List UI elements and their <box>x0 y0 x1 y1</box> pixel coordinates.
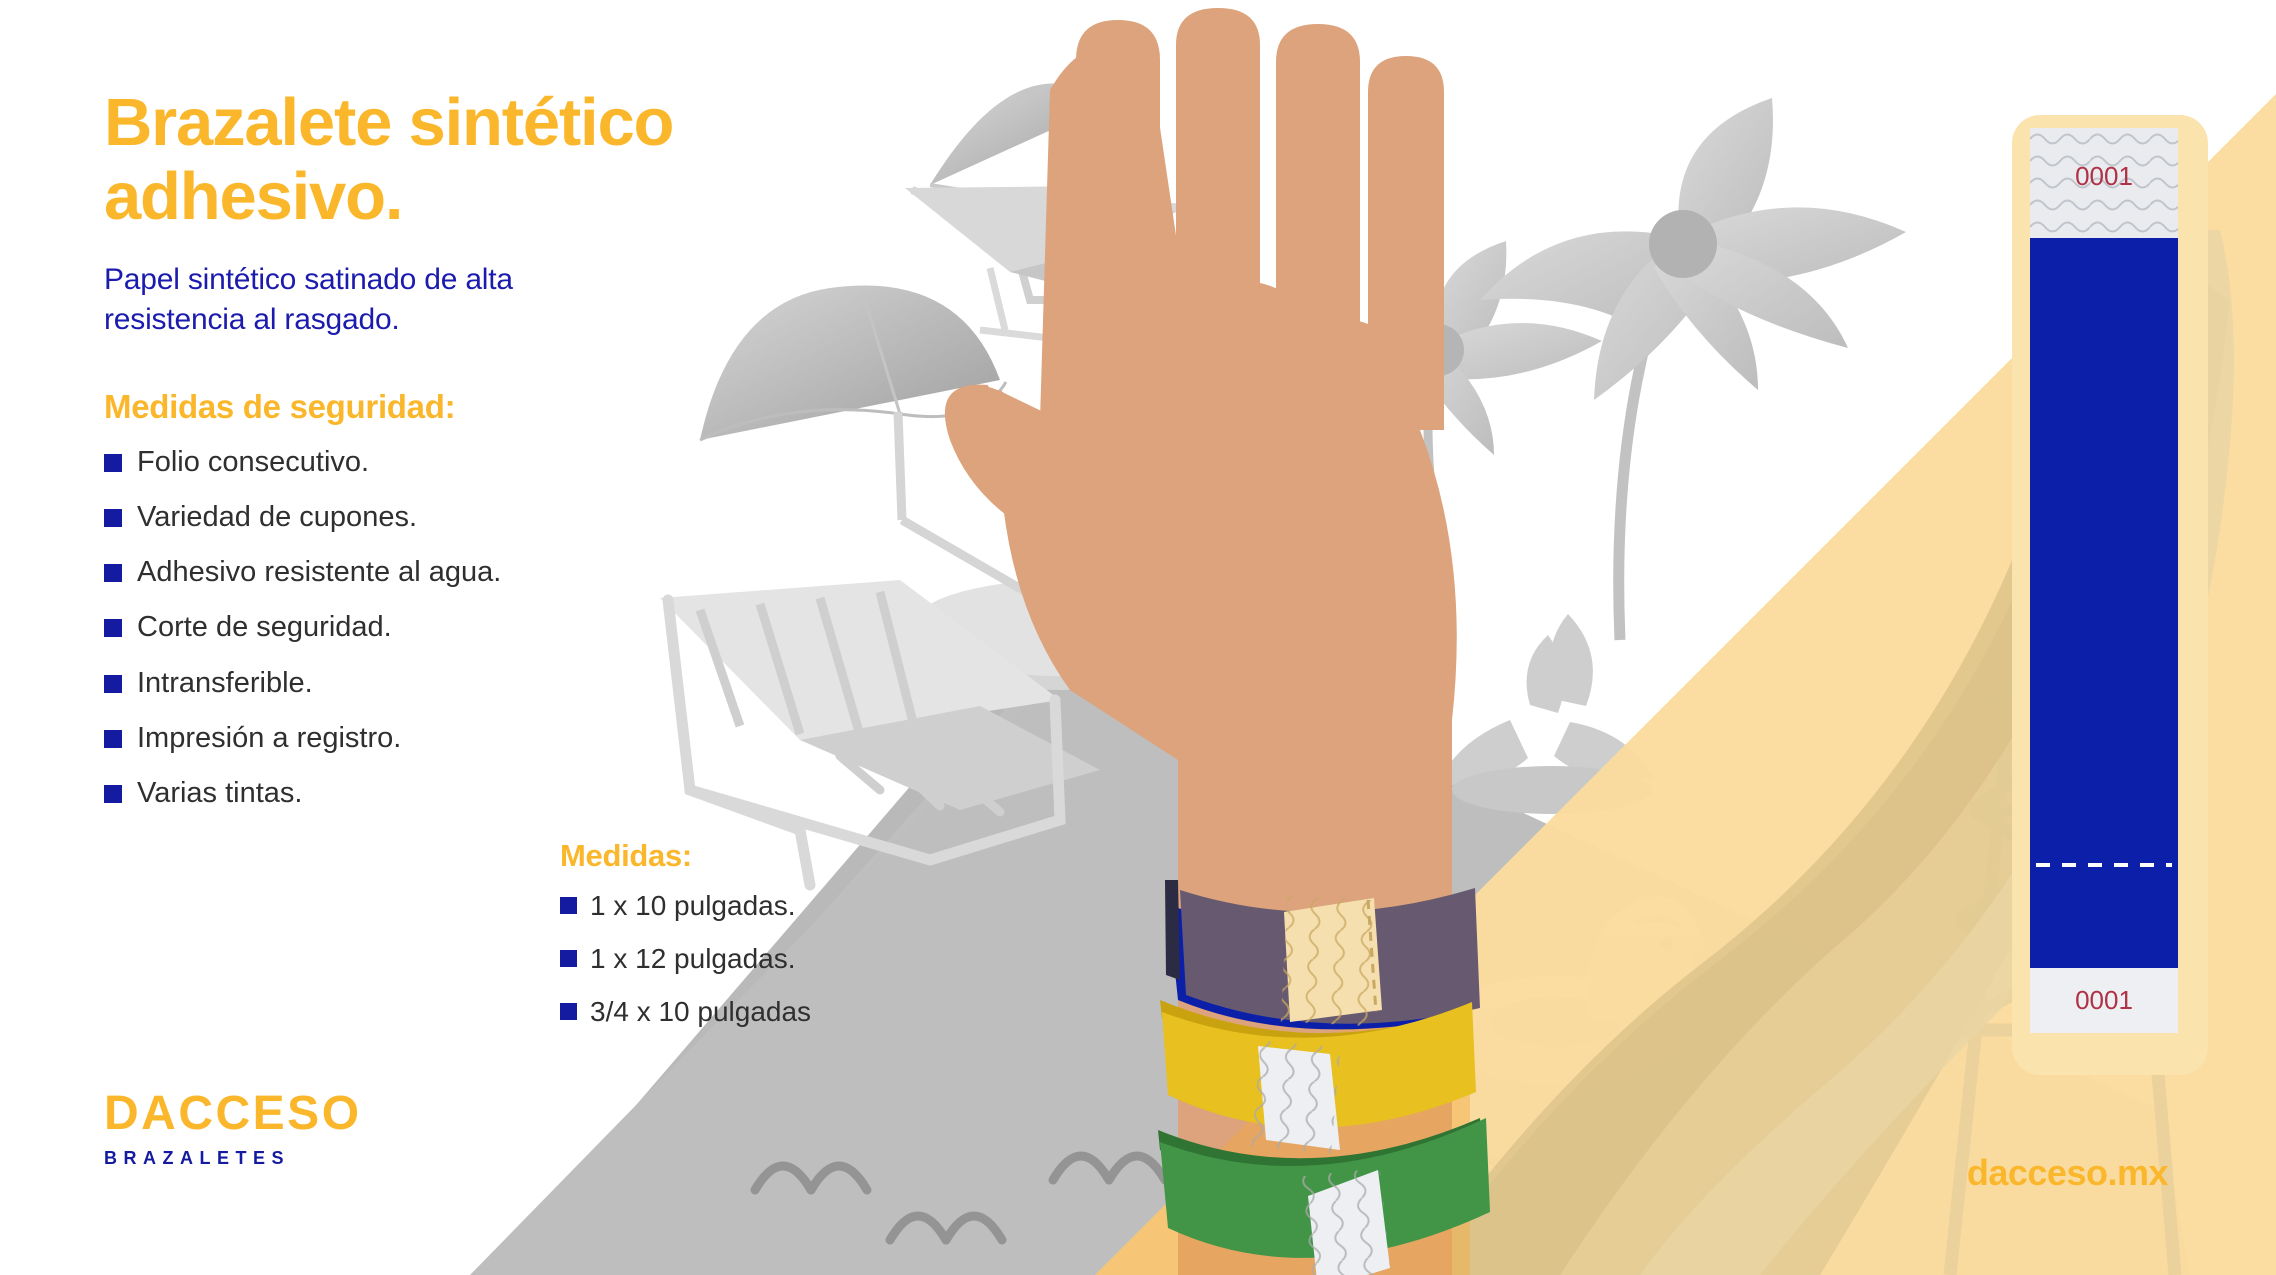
list-item-label: Adhesivo resistente al agua. <box>137 554 501 591</box>
list-item-label: 1 x 10 pulgadas. <box>590 888 796 924</box>
bullet-square-icon <box>104 675 122 693</box>
list-item-label: 1 x 12 pulgadas. <box>590 941 796 977</box>
bullet-square-icon <box>560 897 577 914</box>
folio-main-band <box>2030 238 2178 968</box>
bullet-square-icon <box>104 785 122 803</box>
page-title: Brazalete sintético adhesivo. <box>104 86 804 233</box>
list-item-label: Impresión a registro. <box>137 720 401 757</box>
folio-bottom-stub: 0001 <box>2030 968 2178 1033</box>
bullet-square-icon <box>104 509 122 527</box>
list-item: 1 x 10 pulgadas. <box>560 888 980 924</box>
bullet-square-icon <box>104 454 122 472</box>
security-section-title: Medidas de seguridad: <box>104 388 804 426</box>
bullet-square-icon <box>104 730 122 748</box>
bullet-square-icon <box>560 950 577 967</box>
security-measures-list: Folio consecutivo. Variedad de cupones. … <box>104 444 804 812</box>
bullet-square-icon <box>560 1003 577 1020</box>
list-item-label: Variedad de cupones. <box>137 499 417 536</box>
text-column: Brazalete sintético adhesivo. Papel sint… <box>104 86 804 830</box>
list-item: 1 x 12 pulgadas. <box>560 941 980 977</box>
perforation-line <box>2036 863 2172 867</box>
list-item: Folio consecutivo. <box>104 444 804 481</box>
bullet-square-icon <box>104 564 122 582</box>
list-item-label: 3/4 x 10 pulgadas <box>590 994 811 1030</box>
list-item: Intransferible. <box>104 665 804 702</box>
list-item-label: Varias tintas. <box>137 775 302 812</box>
poster-canvas: Brazalete sintético adhesivo. Papel sint… <box>0 0 2276 1275</box>
folio-bottom-number: 0001 <box>2030 985 2178 1016</box>
list-item: Varias tintas. <box>104 775 804 812</box>
folio-top-stub: 0001 <box>2030 128 2178 238</box>
list-item: 3/4 x 10 pulgadas <box>560 994 980 1030</box>
list-item: Adhesivo resistente al agua. <box>104 554 804 591</box>
bullet-square-icon <box>104 619 122 637</box>
measures-list: 1 x 10 pulgadas. 1 x 12 pulgadas. 3/4 x … <box>560 888 980 1029</box>
subtitle: Papel sintético satinado de alta resiste… <box>104 260 644 340</box>
headline-line-2: adhesivo. <box>104 159 402 234</box>
folio-top-number: 0001 <box>2030 161 2178 192</box>
list-item: Impresión a registro. <box>104 720 804 757</box>
list-item-label: Folio consecutivo. <box>137 444 369 481</box>
measures-section-title: Medidas: <box>560 838 980 874</box>
list-item-label: Intransferible. <box>137 665 313 702</box>
headline-line-1: Brazalete sintético <box>104 85 673 160</box>
website-url[interactable]: dacceso.mx <box>1967 1152 2168 1194</box>
measures-block: Medidas: 1 x 10 pulgadas. 1 x 12 pulgada… <box>560 838 980 1046</box>
list-item: Corte de seguridad. <box>104 609 804 646</box>
brand-logo: DACCESO BRAZALETES <box>104 1090 362 1167</box>
wristband-purple <box>1165 880 1480 1029</box>
list-item-label: Corte de seguridad. <box>137 609 392 646</box>
list-item: Variedad de cupones. <box>104 499 804 536</box>
folio-wristband-strip: 0001 0001 <box>2030 128 2178 1033</box>
logo-tagline: BRAZALETES <box>104 1149 362 1167</box>
logo-brand-name: DACCESO <box>104 1090 362 1138</box>
